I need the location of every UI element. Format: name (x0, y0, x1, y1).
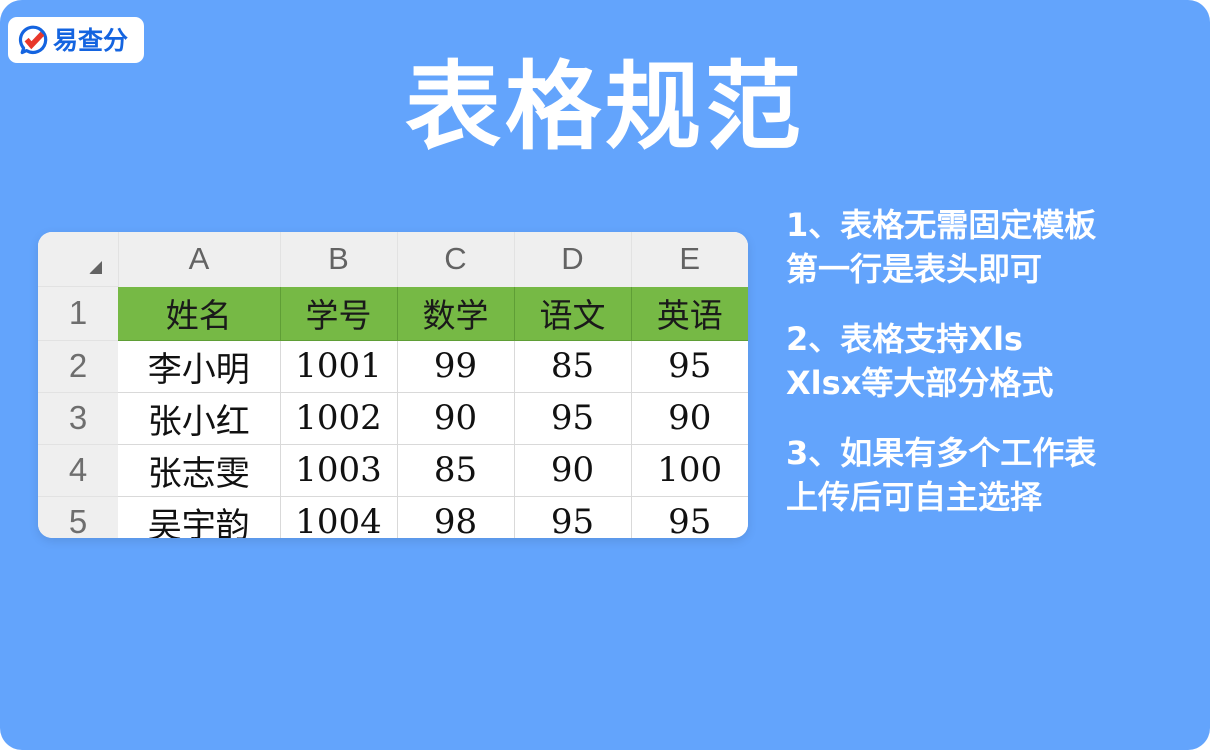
cell-a5[interactable]: 吴宇韵 (118, 496, 280, 538)
note-item-1: 1、表格无需固定模板 第一行是表头即可 (786, 203, 1206, 291)
note-1-line-1: 1、表格无需固定模板 (786, 203, 1206, 247)
cell-c2[interactable]: 99 (397, 340, 514, 392)
cell-d5[interactable]: 95 (514, 496, 631, 538)
table-row: 2 李小明 1001 99 85 95 (38, 340, 748, 392)
cell-a3[interactable]: 张小红 (118, 392, 280, 444)
cell-e2[interactable]: 95 (631, 340, 748, 392)
cell-c1[interactable]: 数学 (397, 287, 514, 341)
table-row: 5 吴宇韵 1004 98 95 95 (38, 496, 748, 538)
notes-list: 1、表格无需固定模板 第一行是表头即可 2、表格支持Xls Xlsx等大部分格式… (786, 203, 1206, 519)
select-all-corner[interactable] (38, 232, 118, 287)
table-row: 3 张小红 1002 90 95 90 (38, 392, 748, 444)
cell-c4[interactable]: 85 (397, 444, 514, 496)
brand-logo-text: 易查分 (53, 28, 128, 53)
spreadsheet-table: A B C D E 1 姓名 学号 数学 语文 英语 2 李小明 (38, 232, 748, 538)
note-3-line-1: 3、如果有多个工作表 (786, 431, 1206, 475)
cell-c3[interactable]: 90 (397, 392, 514, 444)
corner-triangle-icon (89, 261, 102, 274)
column-header-row: A B C D E (38, 232, 748, 287)
cell-b4[interactable]: 1003 (280, 444, 397, 496)
column-header-d[interactable]: D (514, 232, 631, 287)
spreadsheet-panel: A B C D E 1 姓名 学号 数学 语文 英语 2 李小明 (38, 232, 748, 538)
note-item-3: 3、如果有多个工作表 上传后可自主选择 (786, 431, 1206, 519)
cell-a2[interactable]: 李小明 (118, 340, 280, 392)
cell-d3[interactable]: 95 (514, 392, 631, 444)
cell-a1[interactable]: 姓名 (118, 287, 280, 341)
cell-b5[interactable]: 1004 (280, 496, 397, 538)
note-2-line-2: Xlsx等大部分格式 (786, 361, 1206, 405)
cell-e1[interactable]: 英语 (631, 287, 748, 341)
row-number-5[interactable]: 5 (38, 496, 118, 538)
row-number-2[interactable]: 2 (38, 340, 118, 392)
table-row: 1 姓名 学号 数学 语文 英语 (38, 287, 748, 341)
cell-e3[interactable]: 90 (631, 392, 748, 444)
note-item-2: 2、表格支持Xls Xlsx等大部分格式 (786, 317, 1206, 405)
row-number-1[interactable]: 1 (38, 287, 118, 341)
poster-canvas: 易查分 表格规范 A B C D E 1 (0, 0, 1210, 750)
note-1-line-2: 第一行是表头即可 (786, 247, 1206, 291)
cell-b1[interactable]: 学号 (280, 287, 397, 341)
column-header-c[interactable]: C (397, 232, 514, 287)
cell-d1[interactable]: 语文 (514, 287, 631, 341)
row-number-4[interactable]: 4 (38, 444, 118, 496)
cell-c5[interactable]: 98 (397, 496, 514, 538)
cell-e5[interactable]: 95 (631, 496, 748, 538)
cell-d4[interactable]: 90 (514, 444, 631, 496)
column-header-e[interactable]: E (631, 232, 748, 287)
note-2-line-1: 2、表格支持Xls (786, 317, 1206, 361)
row-number-3[interactable]: 3 (38, 392, 118, 444)
cell-b2[interactable]: 1001 (280, 340, 397, 392)
table-row: 4 张志雯 1003 85 90 100 (38, 444, 748, 496)
cell-e4[interactable]: 100 (631, 444, 748, 496)
column-header-b[interactable]: B (280, 232, 397, 287)
cell-b3[interactable]: 1002 (280, 392, 397, 444)
page-title: 表格规范 (0, 52, 1210, 162)
cell-a4[interactable]: 张志雯 (118, 444, 280, 496)
column-header-a[interactable]: A (118, 232, 280, 287)
cell-d2[interactable]: 85 (514, 340, 631, 392)
note-3-line-2: 上传后可自主选择 (786, 475, 1206, 519)
